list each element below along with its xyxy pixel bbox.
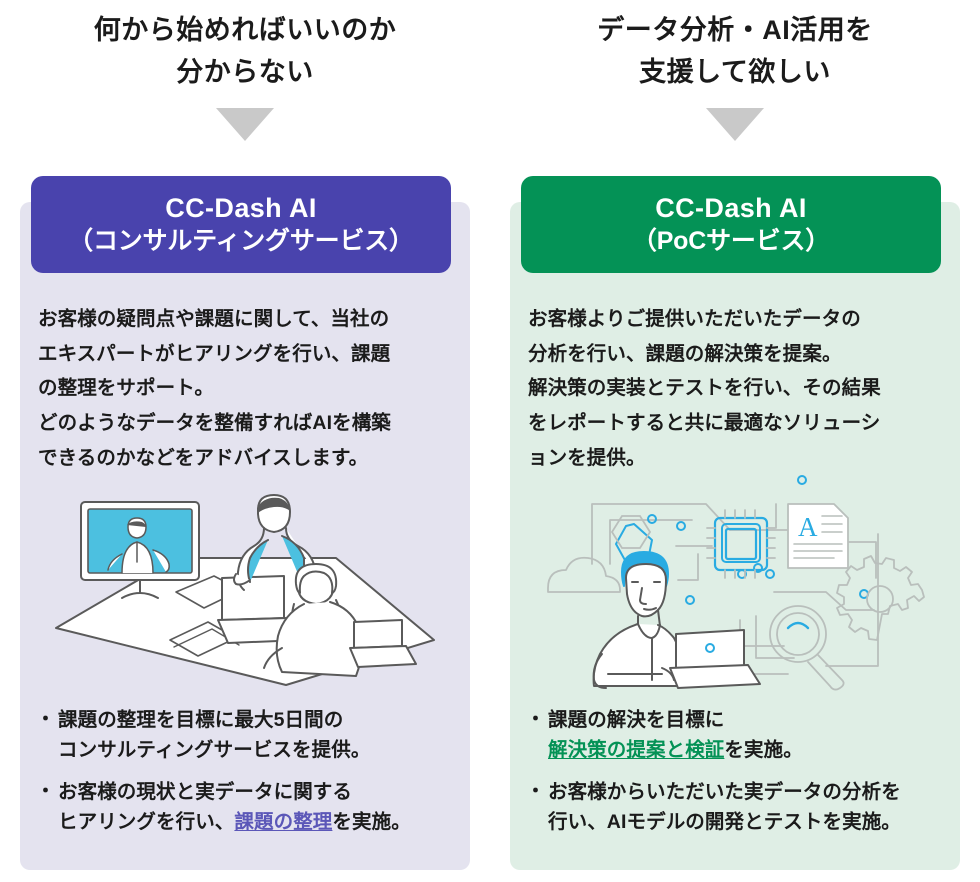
headline-consulting: 何から始めればいいのか 分からない [20, 10, 470, 94]
list-item: ・ お客様からいただいた実データの分析を 行い、AIモデルの開発とテストを実施。 [526, 778, 954, 837]
description-line: 分析を行い、課題の解決策を提案。 [528, 337, 946, 372]
headline-line: 分からない [20, 52, 470, 94]
bullet-line: 課題の解決を目標に [548, 706, 803, 736]
bullet-marker: ・ [526, 706, 548, 735]
bullets-poc: ・ 課題の解決を目標に 解決策の提案と検証を実施。 ・ お客様からいただいた実デ… [526, 706, 954, 851]
bullet-marker: ・ [526, 778, 548, 807]
list-item: ・ お客様の現状と実データに関する ヒアリングを行い、課題の整理を実施。 [36, 778, 464, 837]
bullet-segment: を実施。 [724, 739, 802, 761]
description-line: できるのかなどをアドバイスします。 [38, 441, 456, 476]
banner-subtitle: （コンサルティングサービス） [68, 226, 414, 257]
headline-line: データ分析・AI活用を [510, 10, 960, 52]
list-item: ・ 課題の解決を目標に 解決策の提案と検証を実施。 [526, 706, 954, 765]
bullet-segment: ヒアリングを行い、 [58, 811, 234, 833]
bullet-marker: ・ [36, 778, 58, 807]
banner-title: CC-Dash AI [165, 192, 317, 224]
bullet-line: お客様の現状と実データに関する [58, 778, 411, 808]
data-analysis-ai-illustration: A [526, 468, 946, 694]
headline-poc: データ分析・AI活用を 支援して欲しい [510, 10, 960, 94]
banner-title: CC-Dash AI [655, 192, 807, 224]
description-poc: お客様よりご提供いただいたデータの 分析を行い、課題の解決策を提案。 解決策の実… [528, 302, 946, 476]
description-line: お客様よりご提供いただいたデータの [528, 302, 946, 337]
banner-poc: CC-Dash AI （PoCサービス） [521, 176, 941, 273]
list-item: ・ 課題の整理を目標に最大5日間の コンサルティングサービスを提供。 [36, 706, 464, 765]
bullet-text: 課題の整理を目標に最大5日間の コンサルティングサービスを提供。 [58, 706, 370, 765]
description-consulting: お客様の疑問点や課題に関して、当社の エキスパートがヒアリングを行い、課題 の整… [38, 302, 456, 476]
down-triangle-arrow-icon [706, 108, 764, 141]
description-line: お客様の疑問点や課題に関して、当社の [38, 302, 456, 337]
bullet-line: 解決策の提案と検証を実施。 [548, 736, 803, 766]
comparison-board: 何から始めればいいのか 分からない CC-Dash AI （コンサルティングサー… [0, 0, 980, 882]
column-consulting: 何から始めればいいのか 分からない CC-Dash AI （コンサルティングサー… [20, 0, 470, 882]
video-meeting-consulting-illustration [36, 480, 456, 692]
link-kadai-no-seiri[interactable]: 課題の整理 [234, 811, 332, 833]
down-triangle-arrow-icon [216, 108, 274, 141]
description-line: をレポートすると共に最適なソリューシ [528, 406, 946, 441]
bullet-line: コンサルティングサービスを提供。 [58, 736, 370, 766]
document-letter-a: A [798, 512, 818, 542]
description-line: どのようなデータを整備すればAIを構築 [38, 406, 456, 441]
bullet-segment: を実施。 [332, 811, 410, 833]
description-line: 解決策の実装とテストを行い、その結果 [528, 371, 946, 406]
bullet-line: 行い、AIモデルの開発とテストを実施。 [548, 808, 901, 838]
description-line: エキスパートがヒアリングを行い、課題 [38, 337, 456, 372]
bullet-text: お客様からいただいた実データの分析を 行い、AIモデルの開発とテストを実施。 [548, 778, 901, 837]
link-kaiketsusaku-teian-kensho[interactable]: 解決策の提案と検証 [548, 739, 724, 761]
column-poc: データ分析・AI活用を 支援して欲しい CC-Dash AI （PoCサービス）… [510, 0, 960, 882]
description-line: の整理をサポート。 [38, 371, 456, 406]
headline-line: 支援して欲しい [510, 52, 960, 94]
bullet-text: お客様の現状と実データに関する ヒアリングを行い、課題の整理を実施。 [58, 778, 411, 837]
bullet-marker: ・ [36, 706, 58, 735]
bullet-line: お客様からいただいた実データの分析を [548, 778, 901, 808]
bullet-line: 課題の整理を目標に最大5日間の [58, 706, 370, 736]
bullet-text: 課題の解決を目標に 解決策の提案と検証を実施。 [548, 706, 803, 765]
headline-line: 何から始めればいいのか [20, 10, 470, 52]
bullet-line: ヒアリングを行い、課題の整理を実施。 [58, 808, 411, 838]
banner-subtitle: （PoCサービス） [632, 226, 830, 257]
banner-consulting: CC-Dash AI （コンサルティングサービス） [31, 176, 451, 273]
bullets-consulting: ・ 課題の整理を目標に最大5日間の コンサルティングサービスを提供。 ・ お客様… [36, 706, 464, 851]
